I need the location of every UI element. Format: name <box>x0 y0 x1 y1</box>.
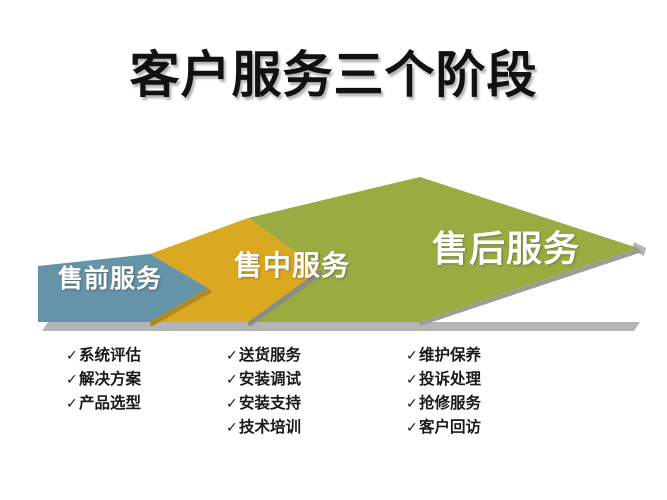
list-item: ✓技术培训 <box>226 416 301 440</box>
list-item: ✓产品选型 <box>66 392 141 416</box>
list-item-label: 系统评估 <box>79 344 141 367</box>
list-item: ✓投诉处理 <box>406 368 481 392</box>
list-item-label: 抢修服务 <box>419 392 481 415</box>
list-item: ✓安装调试 <box>226 368 301 392</box>
list-item-label: 维护保养 <box>419 344 481 367</box>
check-icon: ✓ <box>406 369 419 392</box>
list-item: ✓解决方案 <box>66 368 141 392</box>
stage-label-post-sales: 售后服务 <box>432 228 580 272</box>
list-item: ✓抢修服务 <box>406 392 481 416</box>
list-item-label: 送货服务 <box>239 344 301 367</box>
check-icon: ✓ <box>66 393 79 416</box>
list-item-label: 客户回访 <box>419 416 481 439</box>
stage-label-mid-sales: 售中服务 <box>234 249 350 283</box>
check-icon: ✓ <box>226 369 239 392</box>
list-item-label: 安装支持 <box>239 392 301 415</box>
check-icon: ✓ <box>226 393 239 416</box>
check-icon: ✓ <box>66 369 79 392</box>
list-item: ✓送货服务 <box>226 344 301 368</box>
list-item-label: 投诉处理 <box>419 368 481 391</box>
list-item: ✓维护保养 <box>406 344 481 368</box>
list-item-label: 解决方案 <box>79 368 141 391</box>
list-item: ✓系统评估 <box>66 344 141 368</box>
page-title: 客户服务三个阶段 <box>0 44 667 106</box>
stage-label-pre-sales: 售前服务 <box>58 264 162 294</box>
list-item-label: 技术培训 <box>239 416 301 439</box>
list-item-label: 安装调试 <box>239 368 301 391</box>
list-item: ✓客户回访 <box>406 416 481 440</box>
check-icon: ✓ <box>406 393 419 416</box>
list-item-label: 产品选型 <box>79 392 141 415</box>
bullet-list-pre-sales: ✓系统评估 ✓解决方案 ✓产品选型 <box>66 344 141 416</box>
check-icon: ✓ <box>406 417 419 440</box>
bullet-list-post-sales: ✓维护保养 ✓投诉处理 ✓抢修服务 ✓客户回访 <box>406 344 481 440</box>
bullet-list-mid-sales: ✓送货服务 ✓安装调试 ✓安装支持 ✓技术培训 <box>226 344 301 440</box>
slide-canvas: 客户服务三个阶段 <box>0 0 667 500</box>
check-icon: ✓ <box>406 345 419 368</box>
list-item: ✓安装支持 <box>226 392 301 416</box>
check-icon: ✓ <box>226 417 239 440</box>
check-icon: ✓ <box>66 345 79 368</box>
check-icon: ✓ <box>226 345 239 368</box>
